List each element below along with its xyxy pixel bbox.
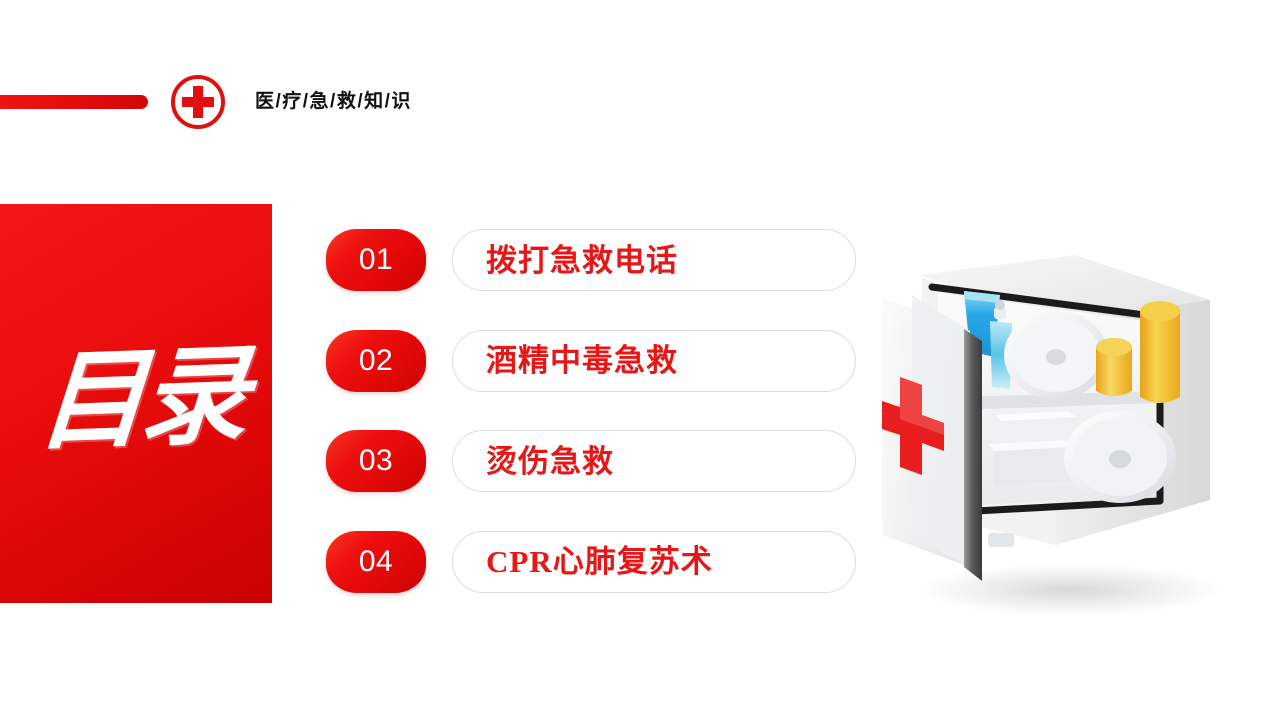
- toc-number: 02: [359, 346, 393, 376]
- toc-number-badge[interactable]: 02: [326, 330, 426, 392]
- toc-label-pill[interactable]: CPR心肺复苏术: [452, 531, 856, 593]
- cabinet-foot: [988, 533, 1014, 547]
- toc-label: CPR心肺复苏术: [453, 546, 713, 577]
- bandage-roll-lower-hole: [1109, 450, 1131, 468]
- toc-label-pill[interactable]: 拨打急救电话: [452, 229, 856, 291]
- header: 医/疗/急/救/知/识: [0, 72, 560, 132]
- toc-label: 拨打急救电话: [453, 245, 678, 276]
- medicine-cabinet-illustration: [860, 245, 1260, 625]
- red-cross-circle-icon: [168, 72, 228, 132]
- slide-root: 医/疗/急/救/知/识 目录 01 拨打急救电话 02 酒精中毒急救: [0, 0, 1280, 720]
- toc-number: 01: [359, 245, 393, 275]
- pill-container-small-top: [1096, 338, 1132, 356]
- list-item[interactable]: 04 CPR心肺复苏术: [326, 531, 856, 593]
- sidebar-red-panel: 目录: [0, 204, 272, 603]
- list-item[interactable]: 03 烫伤急救: [326, 430, 856, 492]
- pill-container-large-top: [1140, 301, 1180, 321]
- supply-box-front: [994, 447, 1072, 485]
- sidebar-title-wrapper: 目录: [0, 204, 272, 603]
- toc-label-pill[interactable]: 酒精中毒急救: [452, 330, 856, 392]
- toc-label-pill[interactable]: 烫伤急救: [452, 430, 856, 492]
- toc-label: 酒精中毒急救: [453, 345, 678, 376]
- page-title: 医/疗/急/救/知/识: [255, 86, 412, 113]
- pill-container-large-body: [1140, 311, 1180, 403]
- toc-number-badge[interactable]: 03: [326, 430, 426, 492]
- toc-number: 04: [359, 547, 393, 577]
- toc-number: 03: [359, 446, 393, 476]
- toc-number-badge[interactable]: 01: [326, 229, 426, 291]
- sidebar-title: 目录: [26, 343, 247, 464]
- cabinet-door-edge: [964, 329, 982, 581]
- bottle-nozzle: [995, 300, 1005, 310]
- list-item[interactable]: 01 拨打急救电话: [326, 229, 856, 291]
- list-item[interactable]: 02 酒精中毒急救: [326, 330, 856, 392]
- toc-number-badge[interactable]: 04: [326, 531, 426, 593]
- header-accent-bar: [0, 95, 148, 109]
- toc-label: 烫伤急救: [453, 446, 614, 477]
- cabinet-shadow: [920, 564, 1220, 616]
- toc-list: 01 拨打急救电话 02 酒精中毒急救 03 烫伤急救 04: [326, 229, 856, 594]
- bandage-roll-upper-hole: [1046, 349, 1066, 365]
